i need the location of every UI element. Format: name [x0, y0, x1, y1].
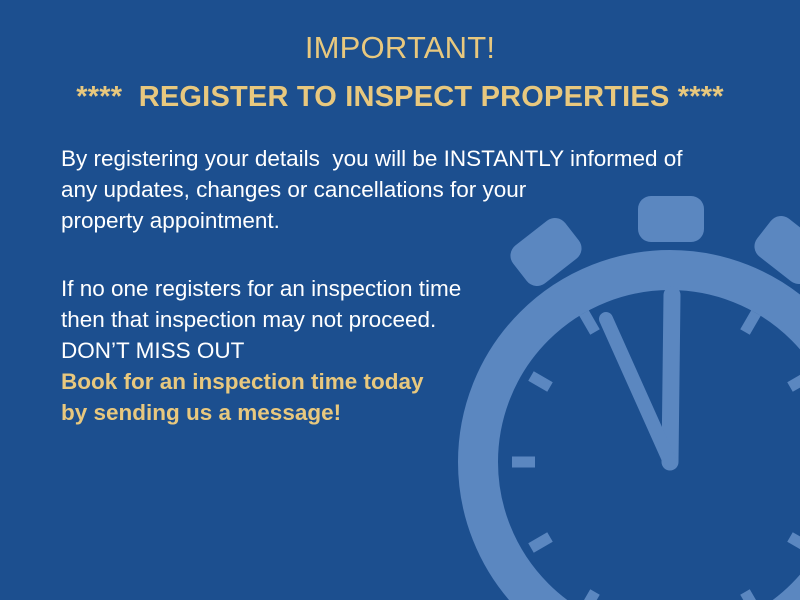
promo-slide: IMPORTANT! **** REGISTER TO INSPECT PROP…	[0, 0, 800, 600]
heading-block: IMPORTANT! **** REGISTER TO INSPECT PROP…	[0, 0, 800, 112]
page-title-register: **** REGISTER TO INSPECT PROPERTIES ****	[0, 65, 800, 112]
cta-send-message: by sending us a message!	[61, 397, 711, 428]
call-to-action-block: DON’T MISS OUT Book for an inspection ti…	[61, 335, 711, 428]
paragraph-registering-benefits: By registering your details you will be …	[61, 143, 711, 236]
cta-dont-miss-out: DON’T MISS OUT	[61, 335, 711, 366]
paragraph-no-registration-warning: If no one registers for an inspection ti…	[61, 273, 711, 335]
body-copy: By registering your details you will be …	[61, 143, 711, 428]
page-title-important: IMPORTANT!	[0, 0, 800, 65]
cta-book-inspection: Book for an inspection time today	[61, 366, 711, 397]
